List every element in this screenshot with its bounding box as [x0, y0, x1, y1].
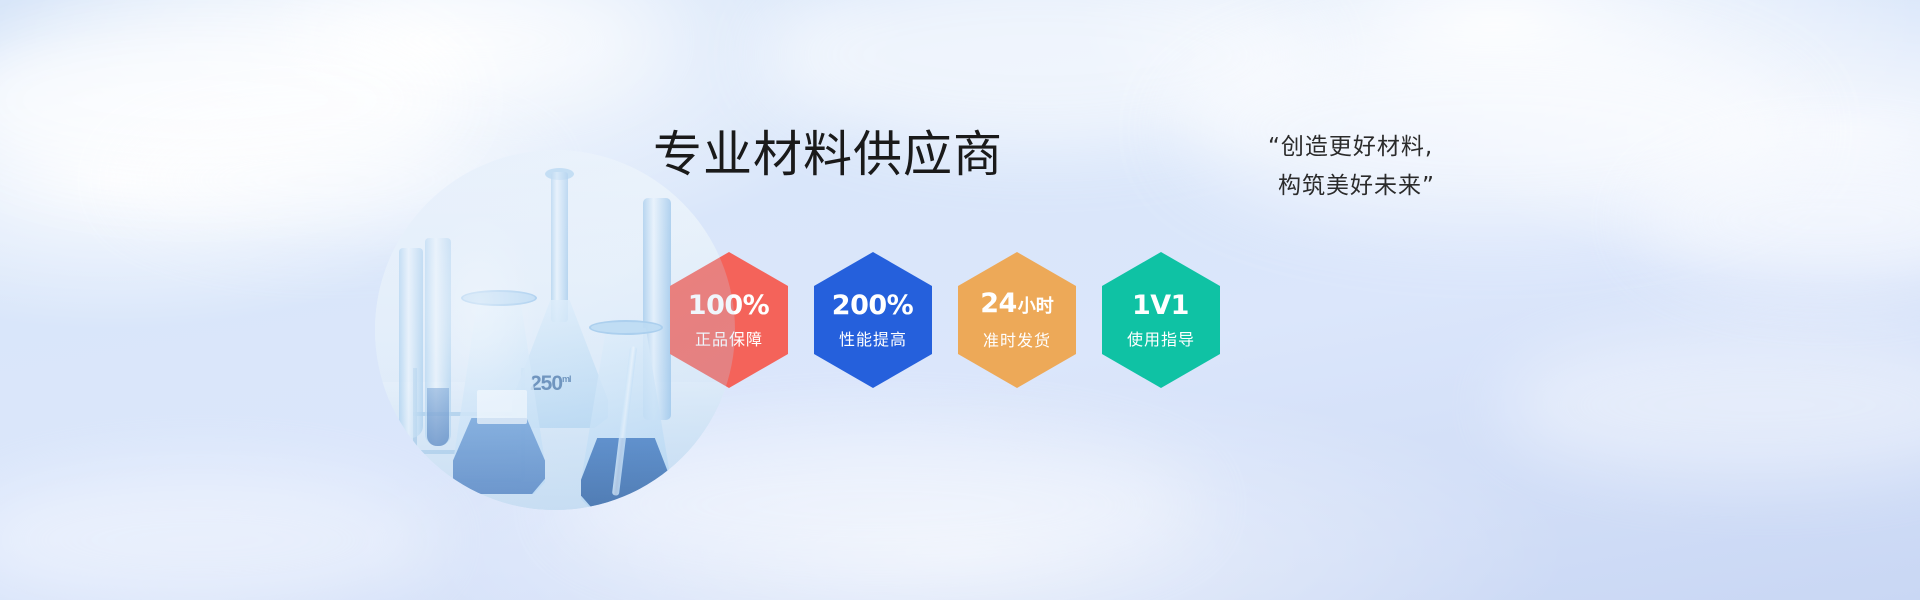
- page-title: 专业材料供应商: [653, 126, 1003, 184]
- badge-value: 1V1: [1132, 291, 1190, 321]
- badge-value: 24 小时: [980, 289, 1054, 322]
- badge-value-number: 24: [980, 289, 1017, 319]
- badge-guidance[interactable]: 1V1 使用指导: [1102, 252, 1220, 388]
- badge-authenticity[interactable]: 100% 正品保障: [670, 252, 788, 388]
- badge-value: 100%: [688, 291, 770, 321]
- cloud-wisp: [1640, 150, 1920, 290]
- badge-value-number: 1V1: [1132, 291, 1189, 321]
- badge-shipping[interactable]: 24 小时 准时发货: [958, 252, 1076, 388]
- badge-performance[interactable]: 200% 性能提高: [814, 252, 932, 388]
- cloud-wisp: [0, 470, 440, 600]
- slogan: “创造更好材料, 构筑美好未来”: [1268, 128, 1468, 206]
- feature-badge-row: 100% 正品保障 200% 性能提高 24 小时 准时发货 1V1: [670, 252, 1260, 380]
- cloud-wisp: [1500, 330, 1920, 480]
- badge-value: 200%: [832, 291, 914, 321]
- badge-label: 使用指导: [1127, 330, 1195, 350]
- badge-value-number: 100%: [688, 291, 769, 321]
- badge-label: 准时发货: [983, 331, 1051, 351]
- slogan-line-1: “创造更好材料,: [1268, 128, 1468, 167]
- badge-label: 性能提高: [839, 330, 907, 350]
- hero-banner: 250ml 专业材料供应商 “创造更好材料, 构筑美好未来” 100% 正品保障: [0, 0, 1920, 600]
- badge-value-unit: 小时: [1018, 292, 1054, 322]
- cloud-wisp: [300, 0, 660, 100]
- badge-label: 正品保障: [695, 330, 763, 350]
- slogan-line-2: 构筑美好未来”: [1268, 167, 1468, 206]
- photo-lab-bench: [375, 382, 735, 510]
- badge-value-number: 200%: [832, 291, 913, 321]
